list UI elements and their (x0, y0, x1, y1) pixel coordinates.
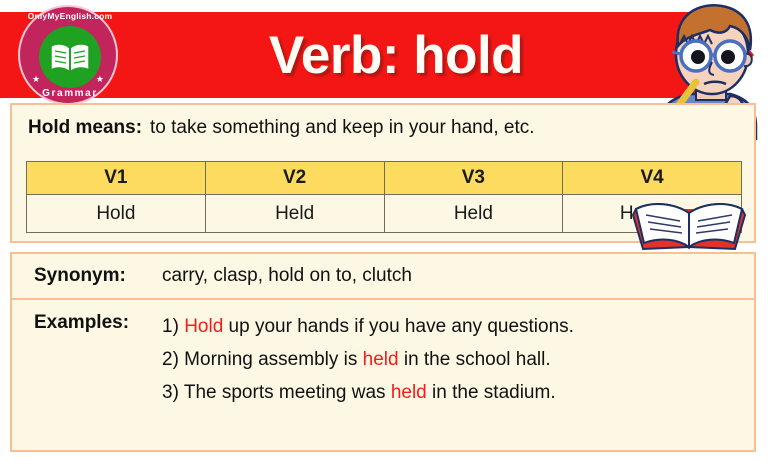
star-icon-left: ★ (32, 75, 40, 84)
example-text-after: in the school hall. (399, 349, 551, 370)
list-item: 2) Morning assembly is held in the schoo… (162, 343, 754, 376)
list-item: 3) The sports meeting was held in the st… (162, 376, 754, 409)
table-cell-v3: Held (384, 195, 563, 233)
example-text-after: up your hands if you have any questions. (223, 316, 574, 337)
table-cell-v1: Hold (27, 195, 206, 233)
table-header-v3: V3 (384, 162, 563, 195)
definition-text: to take something and keep in your hand,… (150, 117, 534, 139)
table-header-v1: V1 (27, 162, 206, 195)
synonym-value: carry, clasp, hold on to, clutch (162, 265, 412, 287)
examples-list: 1) Hold up your hands if you have any qu… (162, 310, 754, 409)
list-item: 1) Hold up your hands if you have any qu… (162, 310, 754, 343)
synonym-examples-card: Synonym: carry, clasp, hold on to, clutc… (10, 252, 756, 452)
example-number: 2) (162, 349, 179, 370)
table-header-v4: V4 (563, 162, 742, 195)
example-text-after: in the stadium. (427, 382, 556, 403)
logo-green-circle (39, 26, 101, 88)
site-logo: OnlyMyEnglish.com ★ ★ Grammar (18, 5, 118, 105)
synonym-label: Synonym: (34, 265, 162, 287)
example-highlight: held (363, 349, 399, 370)
example-highlight: held (391, 382, 427, 403)
open-book-icon (48, 42, 92, 74)
definition-card: Hold means: to take something and keep i… (10, 103, 756, 243)
examples-row: Examples: 1) Hold up your hands if you h… (12, 300, 754, 409)
example-highlight: Hold (184, 316, 223, 337)
open-book-illustration (630, 199, 748, 251)
table-header-row: V1 V2 V3 V4 (27, 162, 742, 195)
table-header-v2: V2 (205, 162, 384, 195)
examples-label: Examples: (34, 310, 162, 409)
definition-row: Hold means: to take something and keep i… (12, 105, 754, 139)
logo-top-text: OnlyMyEnglish.com (20, 11, 120, 21)
table-cell-v2: Held (205, 195, 384, 233)
example-text-before: Morning assembly is (179, 349, 363, 370)
definition-label: Hold means: (28, 117, 142, 139)
example-number: 1) (162, 316, 179, 337)
synonym-row: Synonym: carry, clasp, hold on to, clutc… (12, 254, 754, 300)
example-number: 3) (162, 382, 179, 403)
star-icon-right: ★ (96, 75, 104, 84)
page-header: Verb: hold OnlyMyEnglish.com ★ ★ Grammar (0, 0, 768, 102)
example-text-before: The sports meeting was (179, 382, 391, 403)
logo-bottom-text: Grammar (20, 88, 120, 99)
